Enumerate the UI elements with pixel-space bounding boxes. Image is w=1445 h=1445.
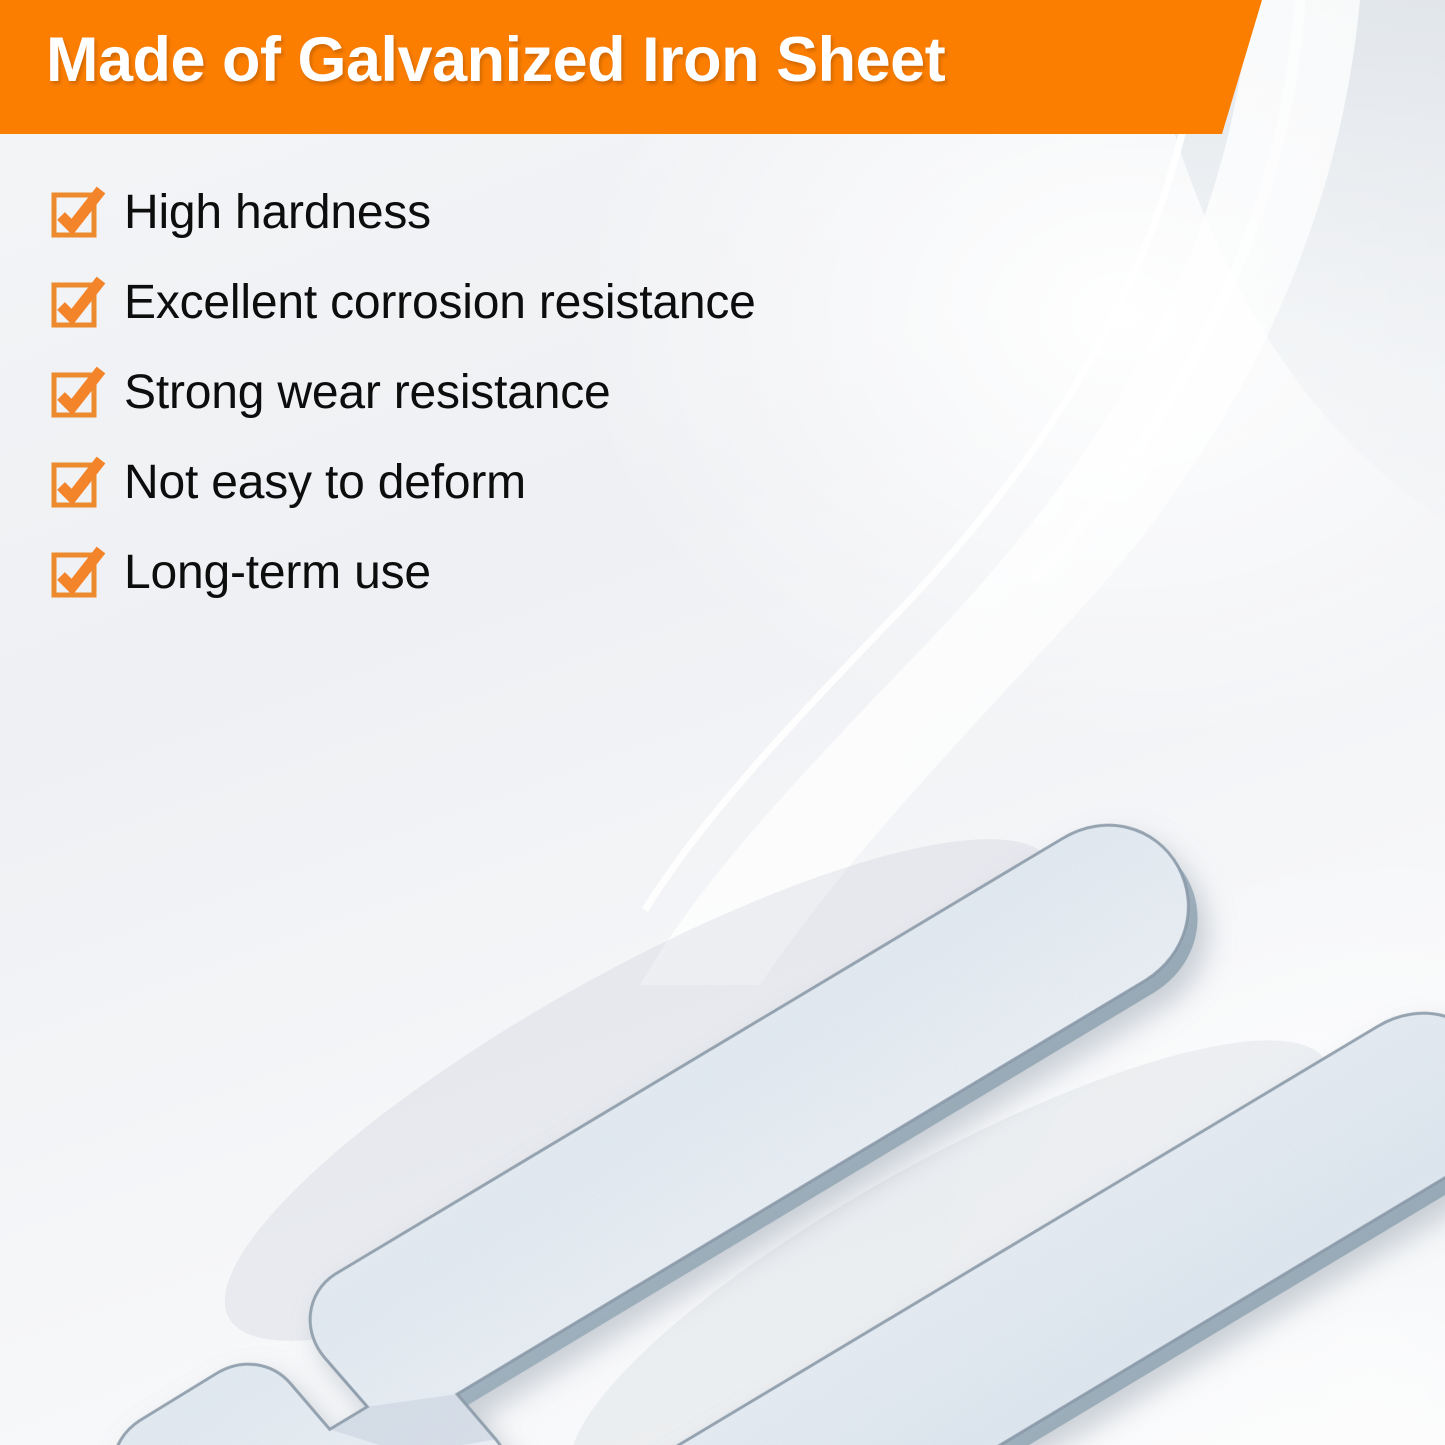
checkbox-checked-icon <box>50 547 102 599</box>
feature-label: Long-term use <box>124 549 431 597</box>
feature-item-wear-resistance: Strong wear resistance <box>50 348 756 438</box>
poster-canvas: Made of Galvanized Iron Sheet High hardn… <box>0 0 1445 1445</box>
page-title: Made of Galvanized Iron Sheet <box>46 24 945 96</box>
feature-label: Excellent corrosion resistance <box>124 279 756 327</box>
checkbox-checked-icon <box>50 277 102 329</box>
feature-label: Not easy to deform <box>124 459 526 507</box>
checkbox-checked-icon <box>50 457 102 509</box>
feature-label: High hardness <box>124 189 431 237</box>
feature-item-high-hardness: High hardness <box>50 168 756 258</box>
checkbox-checked-icon <box>50 187 102 239</box>
feature-item-not-easy-to-deform: Not easy to deform <box>50 438 756 528</box>
checkbox-checked-icon <box>50 367 102 419</box>
feature-item-corrosion-resistance: Excellent corrosion resistance <box>50 258 756 348</box>
header-banner: Made of Galvanized Iron Sheet <box>0 0 1262 134</box>
feature-item-long-term-use: Long-term use <box>50 528 756 618</box>
feature-list: High hardness Excellent corrosion resist… <box>50 168 756 618</box>
feature-label: Strong wear resistance <box>124 369 611 417</box>
